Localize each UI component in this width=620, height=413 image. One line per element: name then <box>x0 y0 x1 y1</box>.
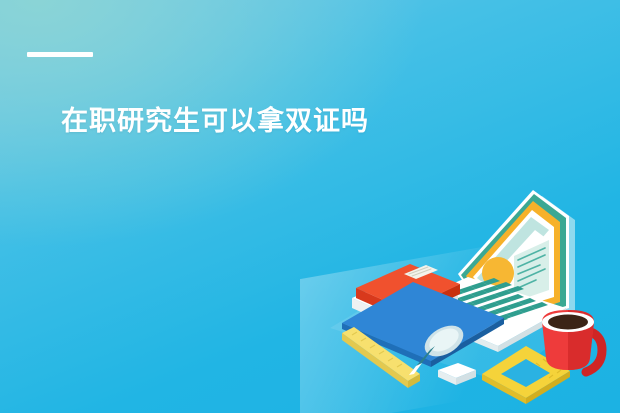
promo-banner: 在职研究生可以拿双证吗 <box>0 0 620 413</box>
page-title: 在职研究生可以拿双证吗 <box>61 104 369 138</box>
illustration-study-desk <box>330 178 620 413</box>
coffee-mug-icon <box>542 310 602 372</box>
accent-underline <box>27 52 93 57</box>
